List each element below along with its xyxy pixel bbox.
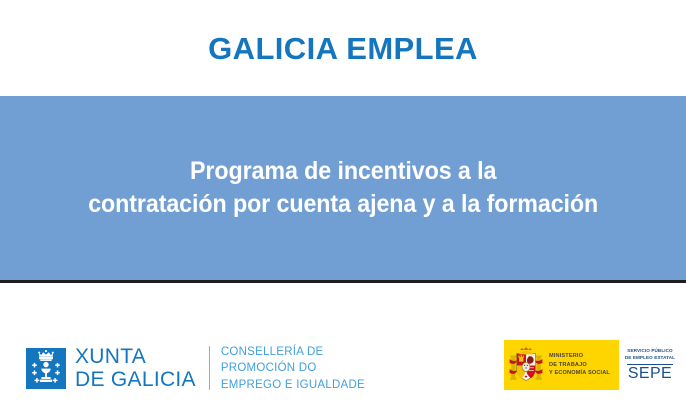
subtitle-text: Programa de incentivos a la contratación…: [82, 155, 603, 221]
ministerio-wordmark: MINISTERIO DE TRABAJO Y ECONOMÍA SOCIAL: [549, 352, 610, 378]
conselleria-wordmark: CONSELLERÍA DE PROMOCIÓN DO EMPREGO E IG…: [221, 344, 365, 393]
conselleria-line-3: EMPREGO E IGUALDADE: [221, 377, 365, 393]
sepe-full-name: SERVICIO PÚBLICO DE EMPLEO ESTATAL: [625, 348, 675, 362]
spain-coat-of-arms-icon: [508, 345, 544, 385]
subtitle-line-2: contratación por cuenta ajena y a la for…: [88, 188, 598, 221]
page-title: GALICIA EMPLEA: [208, 33, 478, 64]
conselleria-line-2: PROMOCIÓN DO: [221, 360, 365, 376]
sepe-name-line-1: SERVICIO PÚBLICO: [625, 348, 675, 355]
subtitle-band: Programa de incentivos a la contratación…: [0, 96, 686, 283]
xunta-wordmark-line-1: XUNTA: [75, 345, 196, 369]
ministerio-line-1: MINISTERIO: [549, 352, 610, 361]
logo-divider: [209, 346, 210, 390]
xunta-de-galicia-logo: XUNTA DE GALICIA CONSELLERÍA DE PROMOCIÓ…: [26, 344, 365, 393]
xunta-wordmark-line-2: DE GALICIA: [75, 368, 196, 392]
sepe-name-line-2: DE EMPLEO ESTATAL: [625, 355, 675, 362]
xunta-wordmark: XUNTA DE GALICIA: [75, 345, 196, 392]
sepe-wordmark: SEPE: [628, 366, 672, 382]
conselleria-line-1: CONSELLERÍA DE: [221, 344, 365, 360]
ministerio-line-2: DE TRABAJO: [549, 361, 610, 370]
subtitle-line-1: Programa de incentivos a la: [88, 155, 598, 188]
sepe-logo: SERVICIO PÚBLICO DE EMPLEO ESTATAL SEPE: [619, 340, 681, 390]
ministerio-line-3: Y ECONOMÍA SOCIAL: [549, 369, 610, 378]
footer-logo-bar: XUNTA DE GALICIA CONSELLERÍA DE PROMOCIÓ…: [0, 286, 686, 410]
title-section: GALICIA EMPLEA: [0, 0, 686, 96]
xunta-coat-of-arms-icon: [26, 348, 66, 389]
poster-canvas: GALICIA EMPLEA Programa de incentivos a …: [0, 0, 686, 410]
gobierno-de-espana-logos: MINISTERIO DE TRABAJO Y ECONOMÍA SOCIAL …: [504, 340, 681, 390]
ministerio-de-trabajo-logo: MINISTERIO DE TRABAJO Y ECONOMÍA SOCIAL: [504, 340, 619, 390]
